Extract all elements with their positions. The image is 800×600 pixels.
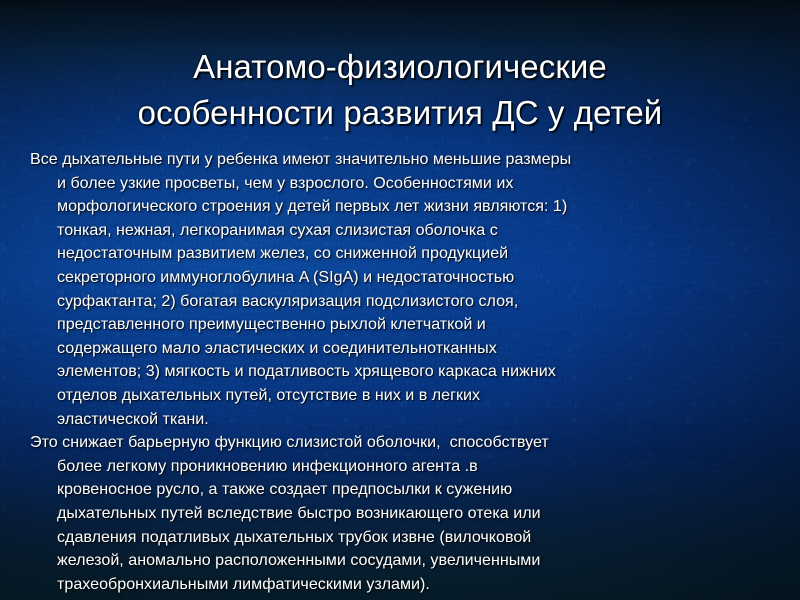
paragraph-1-line-12: эластической ткани. [30, 408, 778, 432]
paragraph-2-line-4: дыхательных путей вследствие быстро возн… [30, 502, 778, 526]
paragraph-2-line-6: железой, аномально расположенными сосуда… [30, 549, 778, 573]
paragraph-1-line-3: морфологического строения у детей первых… [30, 195, 778, 219]
paragraph-2-line-3: кровеносное русло, а также создает предп… [30, 478, 778, 502]
paragraph-1-line-1: Все дыхательные пути у ребенка имеют зна… [30, 148, 778, 172]
paragraph-2-line-5: сдавления податливых дыхательных трубок … [30, 526, 778, 550]
paragraph-1-line-4: тонкая, нежная, легкоранимая сухая слизи… [30, 219, 778, 243]
slide-body: Все дыхательные пути у ребенка имеют зна… [30, 148, 778, 596]
paragraph-1-line-5: недостаточным развитием желез, со снижен… [30, 242, 778, 266]
paragraph-2: Это снижает барьерную функцию слизистой … [30, 431, 778, 596]
paragraph-2-line-7: трахеобронхиальными лимфатическими узлам… [30, 573, 778, 597]
paragraph-1-line-7: сурфактанта; 2) богатая васкуляризация п… [30, 290, 778, 314]
paragraph-1-line-9: содержащего мало эластических и соединит… [30, 337, 778, 361]
paragraph-1-line-8: представленного преимущественно рыхлой к… [30, 313, 778, 337]
paragraph-1-line-2: и более узкие просветы, чем у взрослого.… [30, 172, 778, 196]
paragraph-2-line-1: Это снижает барьерную функцию слизистой … [30, 431, 778, 455]
slide-content: Анатомо-физиологические особенности разв… [0, 0, 800, 600]
paragraph-1: Все дыхательные пути у ребенка имеют зна… [30, 148, 778, 431]
presentation-slide: Анатомо-физиологические особенности разв… [0, 0, 800, 600]
paragraph-2-line-2: более легкому проникновению инфекционног… [30, 455, 778, 479]
paragraph-1-line-6: секреторного иммуноглобулина A (SIgA) и … [30, 266, 778, 290]
paragraph-1-line-10: элементов; 3) мягкость и податливость хр… [30, 360, 778, 384]
paragraph-1-line-11: отделов дыхательных путей, отсутствие в … [30, 384, 778, 408]
slide-title: Анатомо-физиологические особенности разв… [28, 44, 772, 136]
